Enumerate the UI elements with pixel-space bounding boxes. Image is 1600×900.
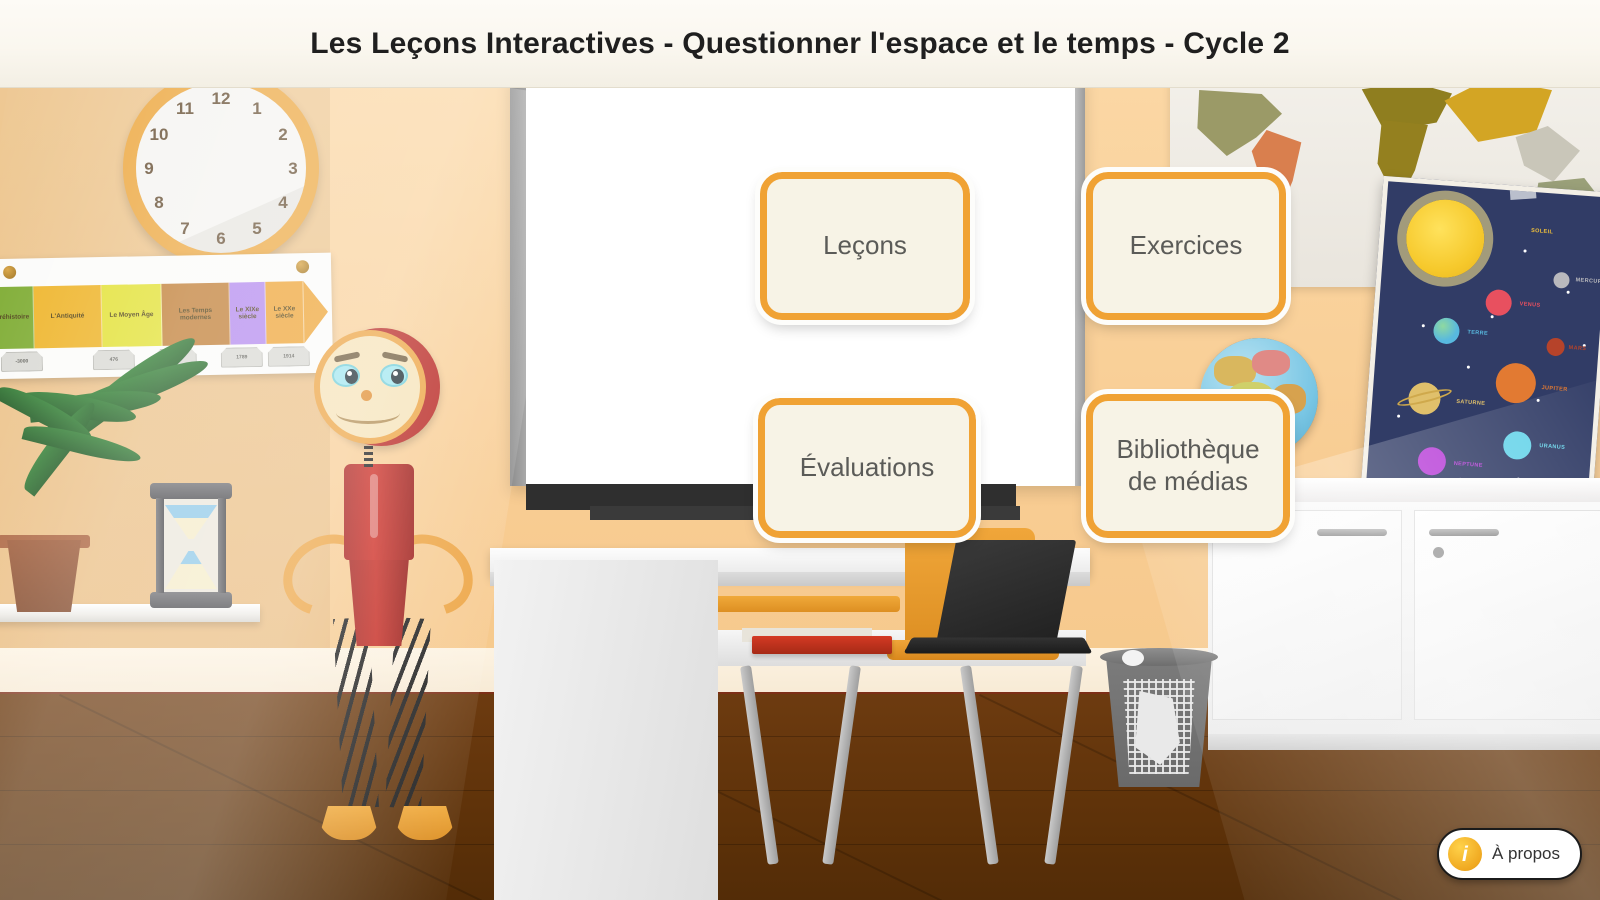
clock-num: 6 — [210, 229, 232, 249]
solar-label: JUPITER — [1541, 385, 1567, 393]
laptop — [908, 540, 1088, 660]
mascot-face — [314, 330, 426, 444]
timeline-badge: 1789 — [221, 347, 263, 368]
mascot-mouth — [336, 402, 400, 424]
solar-label: VENUS — [1519, 301, 1540, 309]
timeline-band: La Préhistoire L'Antiquité Le Moyen Âge … — [0, 281, 329, 350]
timeline-segment: Le XIXe siècle — [229, 282, 266, 345]
clock-num: 3 — [282, 159, 304, 179]
menu-button-lecons[interactable]: Leçons — [760, 172, 970, 320]
mascot-foot — [394, 806, 456, 840]
red-book — [752, 636, 892, 654]
solar-label: NEPTUNE — [1454, 461, 1483, 469]
about-button[interactable]: i À propos — [1437, 828, 1582, 880]
wastebasket — [1100, 648, 1218, 790]
whiteboard-left-frame — [510, 88, 526, 486]
poster-pin — [3, 266, 16, 279]
solar-label: SATURNE — [1456, 399, 1485, 407]
mascot-foot — [318, 806, 380, 840]
crumpled-paper — [1122, 650, 1144, 666]
mascot-eye-right — [380, 364, 408, 387]
menu-button-bibliotheque-de-medias[interactable]: Bibliothèque de médias — [1086, 394, 1290, 538]
hourglass — [150, 483, 232, 608]
mascot-character — [286, 328, 496, 900]
app-window: Les Leçons Interactives - Questionner l'… — [0, 0, 1600, 900]
sun-icon — [1403, 197, 1487, 281]
menu-button-label: Exercices — [1130, 230, 1243, 262]
solar-system-poster: SOLEIL MERCURE VENUS TERRE MARS JUPITER … — [1361, 176, 1600, 502]
clock-num: 9 — [138, 159, 160, 179]
timeline-badge: 476 — [93, 349, 135, 370]
menu-button-label: Évaluations — [800, 452, 934, 484]
timeline-segment: Les Temps modernes — [161, 283, 230, 346]
menu-button-exercices[interactable]: Exercices — [1086, 172, 1286, 320]
mascot-torso — [344, 464, 414, 560]
clock-num: 10 — [148, 125, 170, 145]
cabinet-plinth — [1208, 734, 1600, 750]
menu-button-label-line2: de médias — [1128, 466, 1248, 498]
page-title: Les Leçons Interactives - Questionner l'… — [310, 27, 1289, 61]
clock-num: 8 — [148, 193, 170, 213]
clock-num: 5 — [246, 219, 268, 239]
solar-label: URANUS — [1539, 443, 1565, 451]
timeline-segment: La Préhistoire — [0, 286, 35, 349]
cabinet-door-right[interactable] — [1414, 510, 1600, 720]
clock-num: 7 — [174, 219, 196, 239]
timeline-badge: -3000 — [1, 351, 43, 372]
whiteboard-right-frame — [1075, 88, 1085, 486]
timeline-segment: L'Antiquité — [33, 285, 102, 348]
timeline-segment: Le Moyen Âge — [101, 284, 162, 347]
about-button-label: À propos — [1492, 844, 1560, 864]
clock-num: 11 — [174, 99, 196, 119]
clock-num: 1 — [246, 99, 268, 119]
clock-num: 2 — [272, 125, 294, 145]
solar-label: MERCURE — [1575, 277, 1600, 285]
solar-label-sun: SOLEIL — [1531, 228, 1554, 236]
menu-button-label: Leçons — [823, 230, 907, 262]
info-icon: i — [1448, 837, 1482, 871]
clock-face: 12 1 2 3 4 5 6 7 8 9 10 11 — [136, 88, 306, 253]
solar-label: TERRE — [1467, 329, 1488, 336]
menu-button-label-line1: Bibliothèque — [1116, 434, 1259, 466]
menu-button-evaluations[interactable]: Évaluations — [758, 398, 976, 538]
clock-num: 4 — [272, 193, 294, 213]
mascot-eyebrow — [382, 351, 409, 362]
title-bar: Les Leçons Interactives - Questionner l'… — [0, 0, 1600, 88]
mascot-nose — [361, 390, 372, 401]
solar-label: MARS — [1568, 345, 1586, 352]
desk-pedestal — [494, 560, 718, 900]
cabinet-door-left[interactable] — [1212, 510, 1402, 720]
clock-num: 12 — [210, 89, 232, 109]
mascot-eyebrow — [334, 351, 361, 362]
mascot-lower-body — [348, 546, 410, 646]
poster-pin — [296, 260, 309, 273]
classroom-scene: 12 1 2 3 4 5 6 7 8 9 10 11 La Préhistoir… — [0, 88, 1600, 900]
mascot-eye-left — [332, 364, 360, 387]
